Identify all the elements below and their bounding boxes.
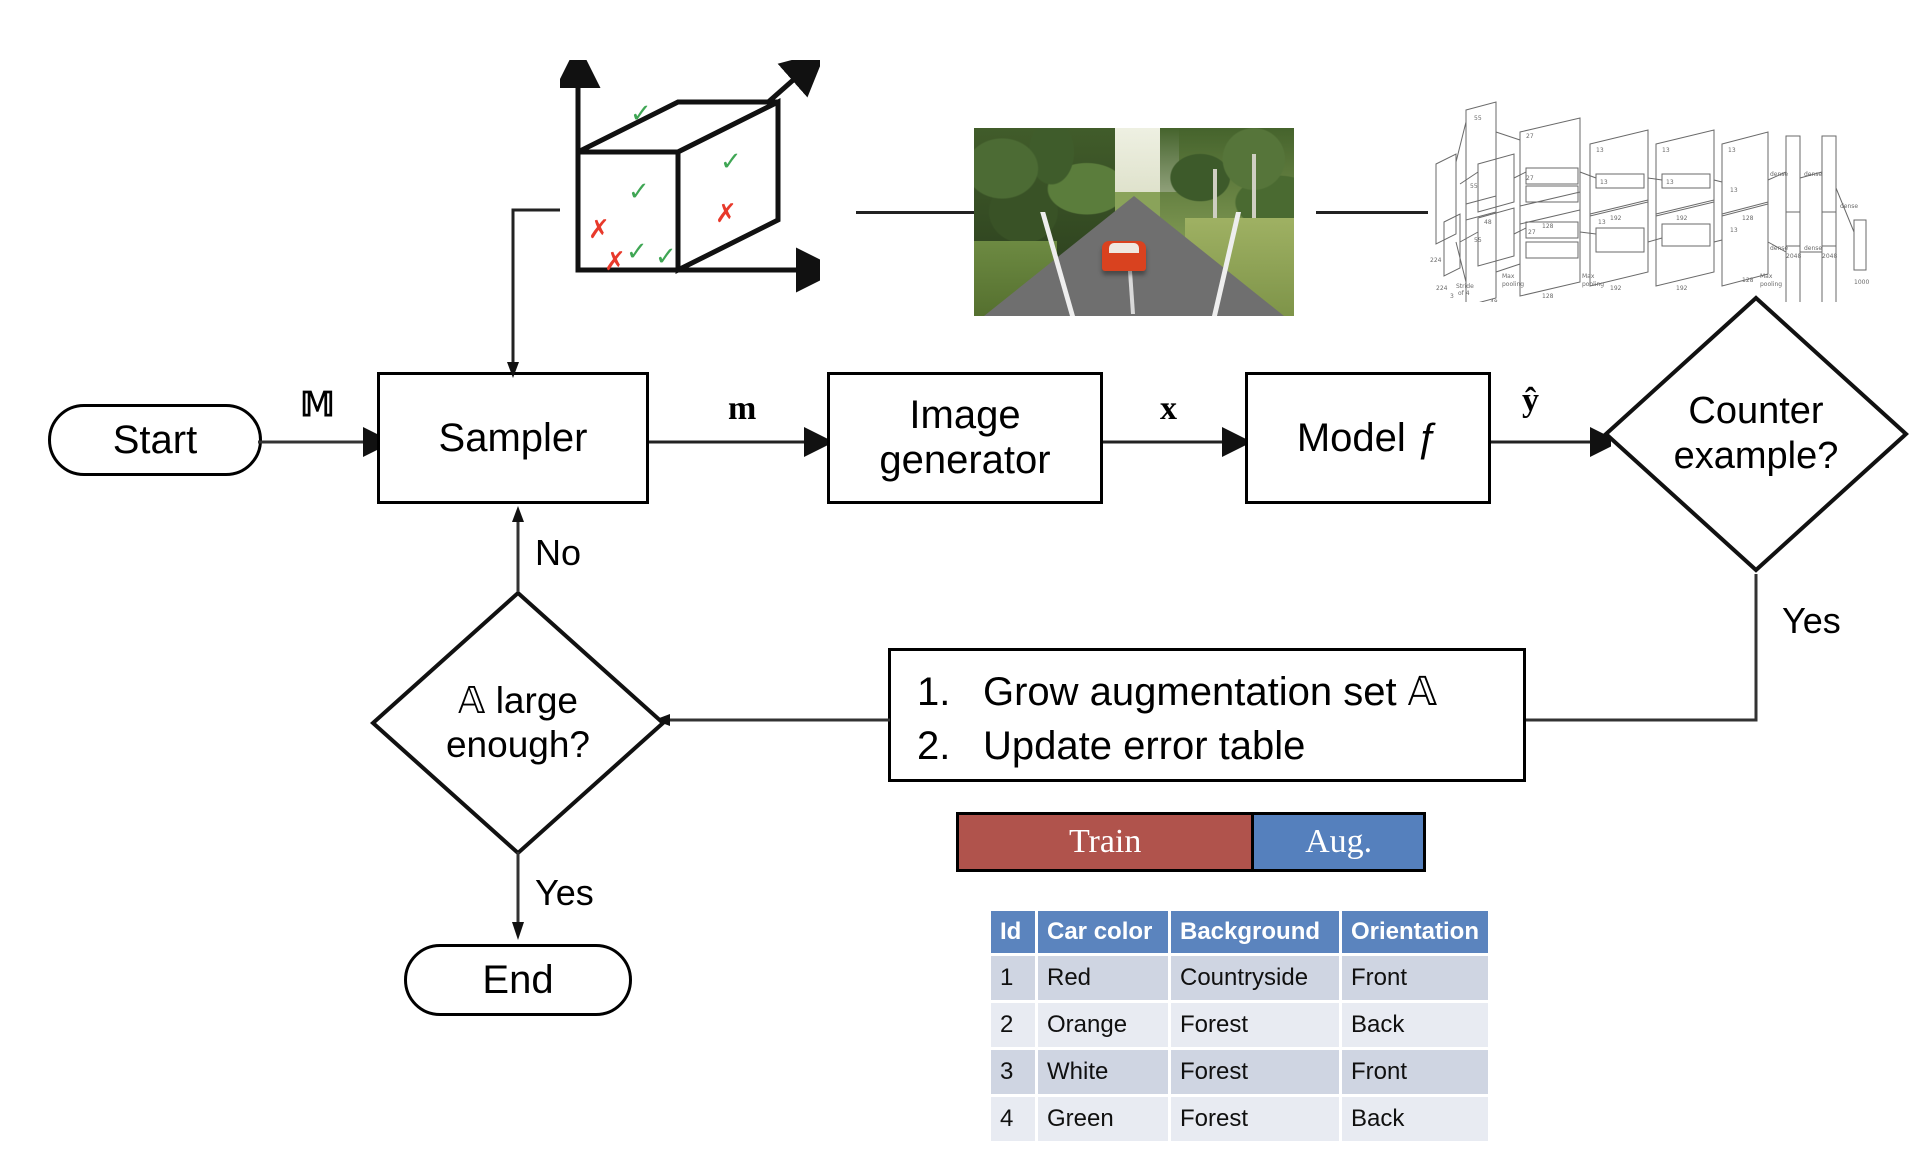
- svg-text:13: 13: [1596, 147, 1604, 154]
- sampler-label: Sampler: [439, 416, 588, 461]
- table-cell: Orange: [1038, 1003, 1168, 1047]
- svg-text:27: 27: [1528, 229, 1536, 236]
- svg-text:224: 224: [1436, 285, 1448, 292]
- edge-label-m: m: [728, 390, 756, 428]
- table-cell: Green: [1038, 1097, 1168, 1141]
- action-text: Grow augmentation set 𝔸: [983, 665, 1437, 719]
- svg-text:pooling: pooling: [1760, 281, 1782, 288]
- table-cell: 4: [991, 1097, 1035, 1141]
- svg-text:2048: 2048: [1822, 253, 1837, 260]
- table-cell: Back: [1342, 1003, 1488, 1047]
- check-icon: ✓: [720, 147, 742, 177]
- svg-text:55: 55: [1470, 183, 1478, 190]
- svg-text:128: 128: [1542, 223, 1554, 230]
- svg-text:dense: dense: [1770, 245, 1788, 252]
- image-generator-label-line2: generator: [879, 438, 1050, 483]
- svg-text:48: 48: [1484, 219, 1492, 226]
- svg-text:2048: 2048: [1786, 253, 1801, 260]
- table-cell: Back: [1342, 1097, 1488, 1141]
- check-icon: ✓: [628, 177, 650, 207]
- table-cell: 3: [991, 1050, 1035, 1094]
- action-number: 1.: [917, 665, 983, 719]
- svg-text:13: 13: [1598, 219, 1606, 226]
- dataset-split-bar: Train Aug.: [956, 812, 1426, 872]
- connector-photo-to-cnn: [1316, 211, 1428, 214]
- table-cell: White: [1038, 1050, 1168, 1094]
- svg-text:128: 128: [1542, 293, 1554, 300]
- table-row: 4GreenForestBack: [991, 1097, 1488, 1141]
- svg-text:pooling: pooling: [1502, 281, 1524, 288]
- table-header-cell: Car color: [1038, 911, 1168, 953]
- counter-example-decision[interactable]: [1600, 292, 1912, 576]
- table-row: 1RedCountrysideFront: [991, 956, 1488, 1000]
- sampler-node[interactable]: Sampler: [377, 372, 649, 504]
- svg-text:128: 128: [1742, 277, 1754, 284]
- end-label: End: [482, 958, 553, 1003]
- diagram-canvas: ✓ ✓ ✗ ✗ ✓ ✓ ✓ ✗: [0, 0, 1932, 1172]
- svg-text:27: 27: [1526, 133, 1534, 140]
- svg-text:55: 55: [1474, 115, 1482, 122]
- actions-box[interactable]: 1. Grow augmentation set 𝔸 2. Update err…: [888, 648, 1526, 782]
- edge-actions-to-large-enough: [650, 700, 894, 740]
- image-generator-label-line1: Image: [909, 393, 1020, 438]
- svg-text:Stride: Stride: [1456, 283, 1474, 290]
- cross-icon: ✗: [604, 247, 626, 277]
- table-cell: Forest: [1171, 1097, 1339, 1141]
- check-icon: ✓: [630, 99, 652, 129]
- svg-text:13: 13: [1600, 179, 1608, 186]
- table-row: 3WhiteForestFront: [991, 1050, 1488, 1094]
- branch-label-yes: Yes: [535, 872, 594, 914]
- svg-text:224: 224: [1430, 257, 1442, 264]
- model-node[interactable]: Model ƒ: [1245, 372, 1491, 504]
- table-header-cell: Orientation: [1342, 911, 1488, 953]
- svg-text:13: 13: [1662, 147, 1670, 154]
- start-label: Start: [113, 418, 197, 463]
- split-train-label: Train: [1069, 823, 1141, 861]
- table-header-cell: Id: [991, 911, 1035, 953]
- table-header-row: Id Car color Background Orientation: [991, 911, 1488, 953]
- start-node[interactable]: Start: [48, 404, 262, 476]
- parameter-space-cube: ✓ ✓ ✗ ✗ ✓ ✓ ✓ ✗: [560, 60, 820, 300]
- svg-text:dense: dense: [1804, 245, 1822, 252]
- svg-text:3: 3: [1450, 293, 1454, 300]
- split-aug-label: Aug.: [1305, 823, 1372, 861]
- svg-text:Max: Max: [1760, 273, 1773, 280]
- svg-text:of 4: of 4: [1458, 290, 1470, 297]
- svg-text:pooling: pooling: [1582, 281, 1604, 288]
- table-cell: 2: [991, 1003, 1035, 1047]
- svg-text:dense: dense: [1840, 203, 1858, 210]
- augmentation-size-decision[interactable]: [368, 588, 668, 858]
- svg-text:27: 27: [1526, 175, 1534, 182]
- svg-text:192: 192: [1610, 215, 1622, 222]
- edge-label-yhat: ŷ: [1522, 382, 1539, 420]
- action-item: 2. Update error table: [917, 719, 1497, 773]
- svg-text:13: 13: [1730, 187, 1738, 194]
- error-table: Id Car color Background Orientation 1Red…: [988, 908, 1491, 1144]
- image-generator-node[interactable]: Image generator: [827, 372, 1103, 504]
- action-item: 1. Grow augmentation set 𝔸: [917, 665, 1497, 719]
- table-cell: 1: [991, 956, 1035, 1000]
- table-cell: Front: [1342, 956, 1488, 1000]
- split-train-segment: Train: [959, 815, 1251, 869]
- connector-cube-to-photo: [856, 211, 974, 214]
- svg-text:1000: 1000: [1854, 279, 1869, 286]
- action-text: Update error table: [983, 719, 1305, 773]
- table-cell: Countryside: [1171, 956, 1339, 1000]
- svg-text:dense: dense: [1770, 171, 1788, 178]
- svg-text:128: 128: [1742, 215, 1754, 222]
- end-node[interactable]: End: [404, 944, 632, 1016]
- action-number: 2.: [917, 719, 983, 773]
- svg-text:Max: Max: [1502, 273, 1515, 280]
- edge-cube-to-sampler: [505, 206, 565, 382]
- svg-text:55: 55: [1474, 237, 1482, 244]
- cnn-architecture-diagram: 224 224 3 Stride of 4 55 55 55 48 48 27 …: [1430, 92, 1880, 302]
- check-icon: ✓: [626, 237, 648, 267]
- edge-counter-yes-to-actions: [1500, 570, 1770, 730]
- edge-large-enough-yes-to-end: [504, 852, 534, 944]
- edge-label-M: 𝕄: [300, 385, 335, 425]
- table-cell: Forest: [1171, 1003, 1339, 1047]
- svg-text:192: 192: [1610, 285, 1622, 292]
- branch-label-counter-yes: Yes: [1782, 600, 1841, 642]
- model-label: Model ƒ: [1297, 416, 1439, 461]
- table-row: 2OrangeForestBack: [991, 1003, 1488, 1047]
- table-cell: Front: [1342, 1050, 1488, 1094]
- edge-large-enough-no-to-sampler: [504, 502, 534, 594]
- generated-image-preview: [974, 128, 1294, 316]
- svg-text:13: 13: [1728, 147, 1736, 154]
- svg-text:Max: Max: [1582, 273, 1595, 280]
- branch-label-no: No: [535, 532, 581, 574]
- table-cell: Forest: [1171, 1050, 1339, 1094]
- svg-text:13: 13: [1730, 227, 1738, 234]
- svg-text:48: 48: [1490, 299, 1498, 302]
- edge-label-x: x: [1160, 390, 1177, 428]
- svg-text:192: 192: [1676, 285, 1688, 292]
- svg-text:192: 192: [1676, 215, 1688, 222]
- edge-model-to-counter: [1491, 412, 1611, 472]
- check-icon: ✓: [655, 242, 677, 272]
- table-cell: Red: [1038, 956, 1168, 1000]
- split-aug-segment: Aug.: [1251, 815, 1423, 869]
- cross-icon: ✗: [588, 215, 610, 245]
- cross-icon: ✗: [715, 199, 737, 229]
- svg-text:13: 13: [1666, 179, 1674, 186]
- table-header-cell: Background: [1171, 911, 1339, 953]
- svg-text:dense: dense: [1804, 171, 1822, 178]
